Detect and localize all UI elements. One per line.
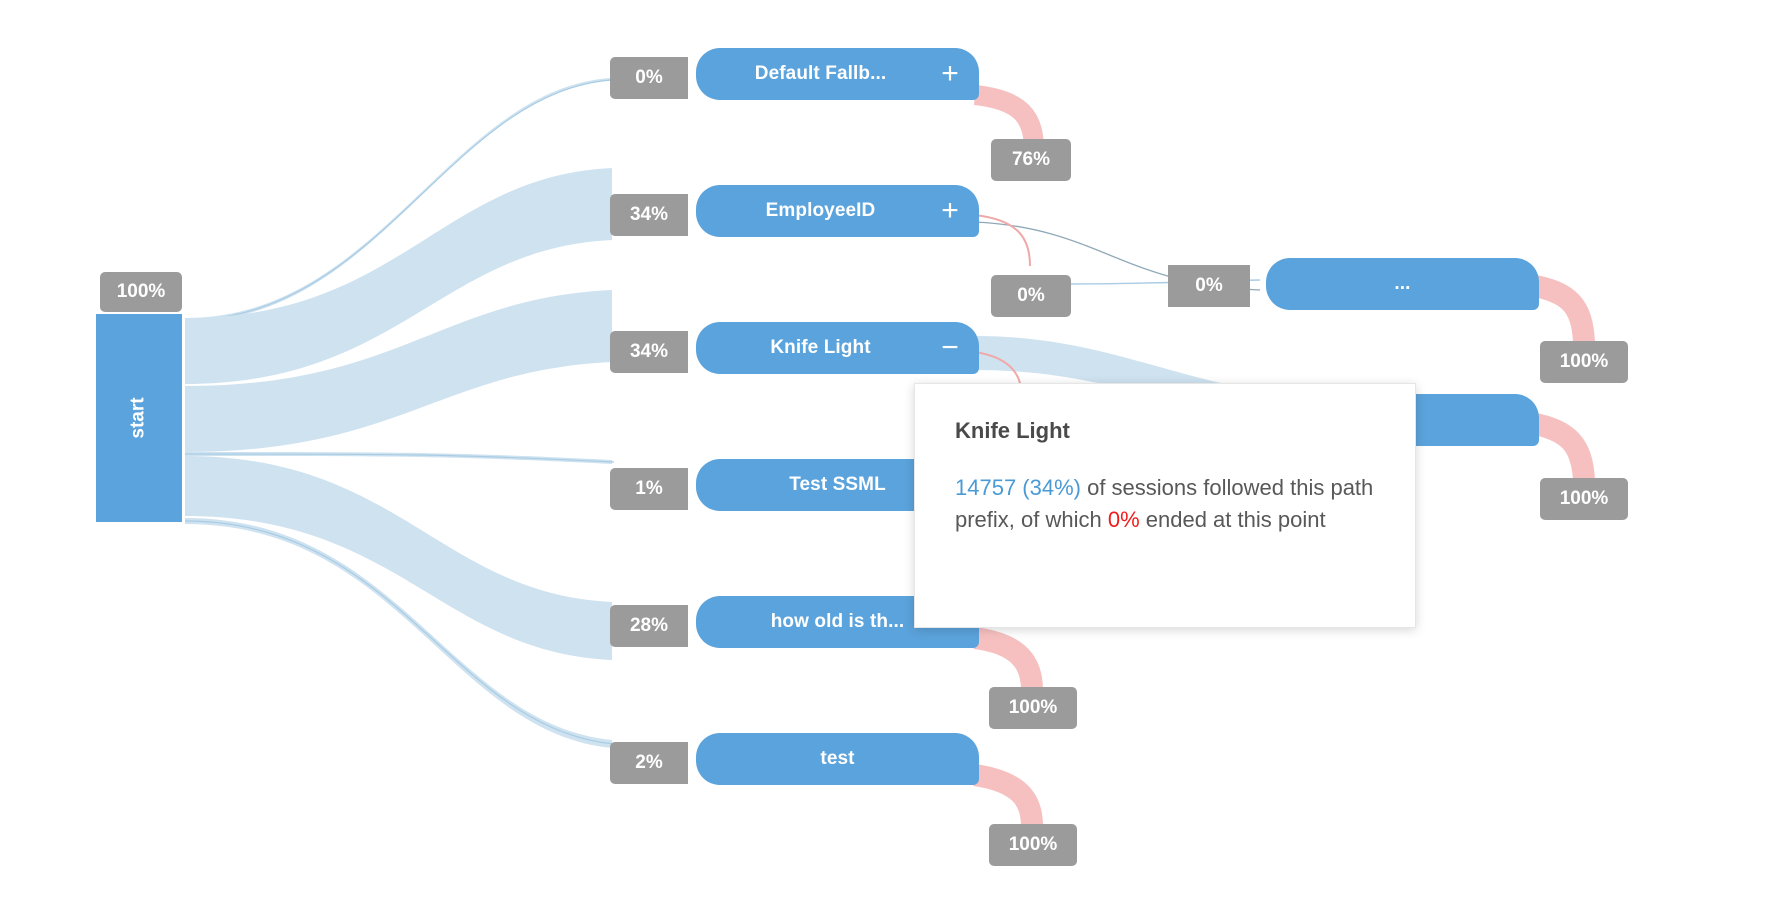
badge-test-percent[interactable]: 2% bbox=[610, 742, 688, 784]
badge-test-dropoff-label: 100% bbox=[1009, 834, 1058, 856]
tooltip-title: Knife Light bbox=[955, 418, 1375, 444]
badge-start-percent-label: 100% bbox=[117, 281, 166, 303]
badge-default-fallback-percent[interactable]: 0% bbox=[610, 57, 688, 99]
node-employeeid[interactable]: EmployeeID + bbox=[696, 185, 979, 237]
expand-plus-icon-employeeid[interactable]: + bbox=[927, 196, 973, 226]
badge-employeeid-percent[interactable]: 34% bbox=[610, 194, 688, 236]
sankey-diagram-canvas: 100% start 0% Default Fallb... + 76% 34%… bbox=[0, 0, 1776, 906]
badge-ellipsis-dropoff[interactable]: 100% bbox=[1540, 341, 1628, 383]
badge-level3-second-dropoff[interactable]: 100% bbox=[1540, 478, 1628, 520]
dropoff-link-how-old[interactable] bbox=[975, 638, 1032, 690]
badge-test-ssml-percent[interactable]: 1% bbox=[610, 468, 688, 510]
badge-default-fallback-label: 0% bbox=[635, 67, 662, 89]
badge-ellipsis-inbound-label: 0% bbox=[1195, 275, 1222, 297]
tooltip-session-suffix: of sessions bbox=[1081, 475, 1197, 500]
node-default-fallback-label: Default Fallb... bbox=[714, 63, 927, 85]
tooltip-ended-suffix: ended at this point bbox=[1140, 507, 1326, 532]
collapse-minus-icon-knife-light[interactable]: − bbox=[927, 333, 973, 363]
node-default-fallback[interactable]: Default Fallb... + bbox=[696, 48, 979, 100]
dropoff-link-test[interactable] bbox=[975, 775, 1032, 826]
badge-employeeid-label: 34% bbox=[630, 204, 668, 226]
badge-ellipsis-inbound[interactable]: 0% bbox=[1168, 265, 1250, 307]
badge-test-ssml-label: 1% bbox=[635, 478, 662, 500]
badge-start-percent[interactable]: 100% bbox=[100, 272, 182, 312]
link-start-to-how-old[interactable] bbox=[185, 456, 612, 660]
node-employeeid-label: EmployeeID bbox=[714, 200, 927, 222]
expand-plus-icon-default-fallback[interactable]: + bbox=[927, 59, 973, 89]
badge-how-old-label: 28% bbox=[630, 615, 668, 637]
node-tooltip: Knife Light 14757 (34%) of sessions foll… bbox=[914, 383, 1416, 628]
badge-ellipsis-dropoff-label: 100% bbox=[1560, 351, 1609, 373]
node-ellipsis[interactable]: ... bbox=[1266, 258, 1539, 310]
badge-level3-second-dropoff-label: 100% bbox=[1560, 488, 1609, 510]
badge-knife-light-label: 34% bbox=[630, 341, 668, 363]
tooltip-ended-percent: 0% bbox=[1108, 507, 1140, 532]
badge-employeeid-dropoff-label: 0% bbox=[1017, 285, 1044, 307]
badge-test-dropoff[interactable]: 100% bbox=[989, 824, 1077, 866]
badge-default-fallback-dropoff[interactable]: 76% bbox=[991, 139, 1071, 181]
tooltip-body: 14757 (34%) of sessions followed this pa… bbox=[955, 472, 1375, 536]
badge-default-fallback-dropoff-label: 76% bbox=[1012, 149, 1050, 171]
badge-how-old-dropoff[interactable]: 100% bbox=[989, 687, 1077, 729]
node-start[interactable]: start bbox=[96, 314, 182, 522]
node-start-label: start bbox=[128, 397, 150, 438]
badge-employeeid-dropoff[interactable]: 0% bbox=[991, 275, 1071, 317]
node-test-label: test bbox=[714, 748, 961, 770]
node-ellipsis-label: ... bbox=[1284, 273, 1521, 295]
badge-test-label: 2% bbox=[635, 752, 662, 774]
badge-knife-light-percent[interactable]: 34% bbox=[610, 331, 688, 373]
node-knife-light-label: Knife Light bbox=[714, 337, 927, 359]
badge-how-old-dropoff-label: 100% bbox=[1009, 697, 1058, 719]
tooltip-session-count: 14757 (34%) bbox=[955, 475, 1081, 500]
node-knife-light[interactable]: Knife Light − bbox=[696, 322, 979, 374]
node-test[interactable]: test bbox=[696, 733, 979, 785]
badge-how-old-percent[interactable]: 28% bbox=[610, 605, 688, 647]
